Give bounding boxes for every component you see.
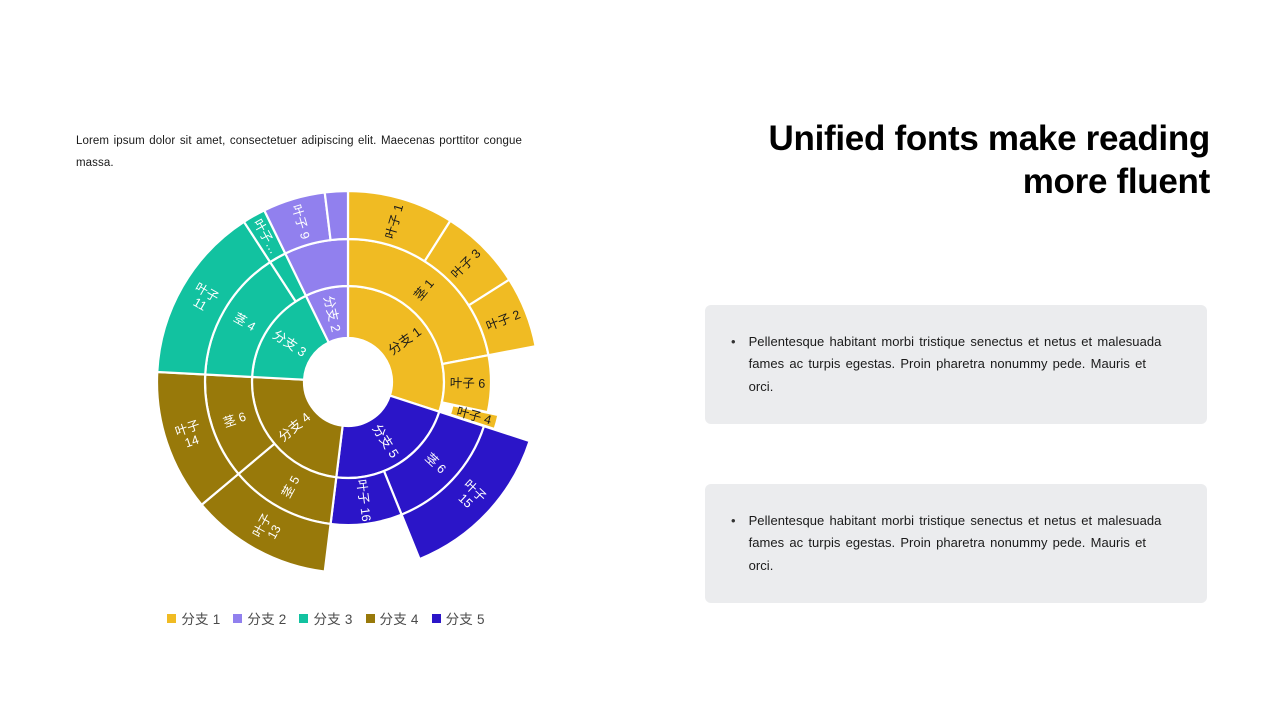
legend-item[interactable]: 分支 4 [366,608,419,628]
sunburst-segment-label: 叶子 6 [450,376,486,390]
legend-item[interactable]: 分支 1 [167,608,220,628]
left-column: Lorem ipsum dolor sit amet, consectetuer… [76,118,556,186]
legend-label: 分支 3 [313,608,352,628]
legend-label: 分支 1 [181,608,220,628]
legend-label: 分支 5 [446,608,485,628]
slide-root: Lorem ipsum dolor sit amet, consectetuer… [0,0,1280,720]
page-title: Unified fonts make reading more fluent [700,118,1210,203]
sunburst-chart: 分支 1茎 1叶子 1叶子 3叶子 2叶子 6叶子 4分支 5茎 6叶子15叶子… [76,180,576,640]
info-card: •Pellentesque habitant morbi tristique s… [705,305,1207,424]
right-column: Unified fonts make reading more fluent [700,118,1210,203]
bullet-text: Pellentesque habitant morbi tristique se… [749,510,1167,577]
bullet-dot-icon: • [731,331,736,353]
bullet-dot-icon: • [731,510,736,532]
bullet-row: •Pellentesque habitant morbi tristique s… [731,331,1167,398]
legend-item[interactable]: 分支 3 [299,608,352,628]
legend-swatch-icon [432,614,441,623]
legend-label: 分支 4 [380,608,419,628]
bullet-cards: •Pellentesque habitant morbi tristique s… [705,305,1207,603]
chart-legend: 分支 1分支 2分支 3分支 4分支 5 [76,608,576,628]
info-card: •Pellentesque habitant morbi tristique s… [705,484,1207,603]
legend-swatch-icon [366,614,375,623]
sunburst-svg: 分支 1茎 1叶子 1叶子 3叶子 2叶子 6叶子 4分支 5茎 6叶子15叶子… [76,180,576,600]
legend-swatch-icon [299,614,308,623]
bullet-text: Pellentesque habitant morbi tristique se… [749,331,1167,398]
legend-item[interactable]: 分支 5 [432,608,485,628]
legend-item[interactable]: 分支 2 [233,608,286,628]
legend-swatch-icon [233,614,242,623]
bullet-row: •Pellentesque habitant morbi tristique s… [731,510,1167,577]
legend-label: 分支 2 [247,608,286,628]
legend-swatch-icon [167,614,176,623]
intro-paragraph: Lorem ipsum dolor sit amet, consectetuer… [76,130,556,175]
